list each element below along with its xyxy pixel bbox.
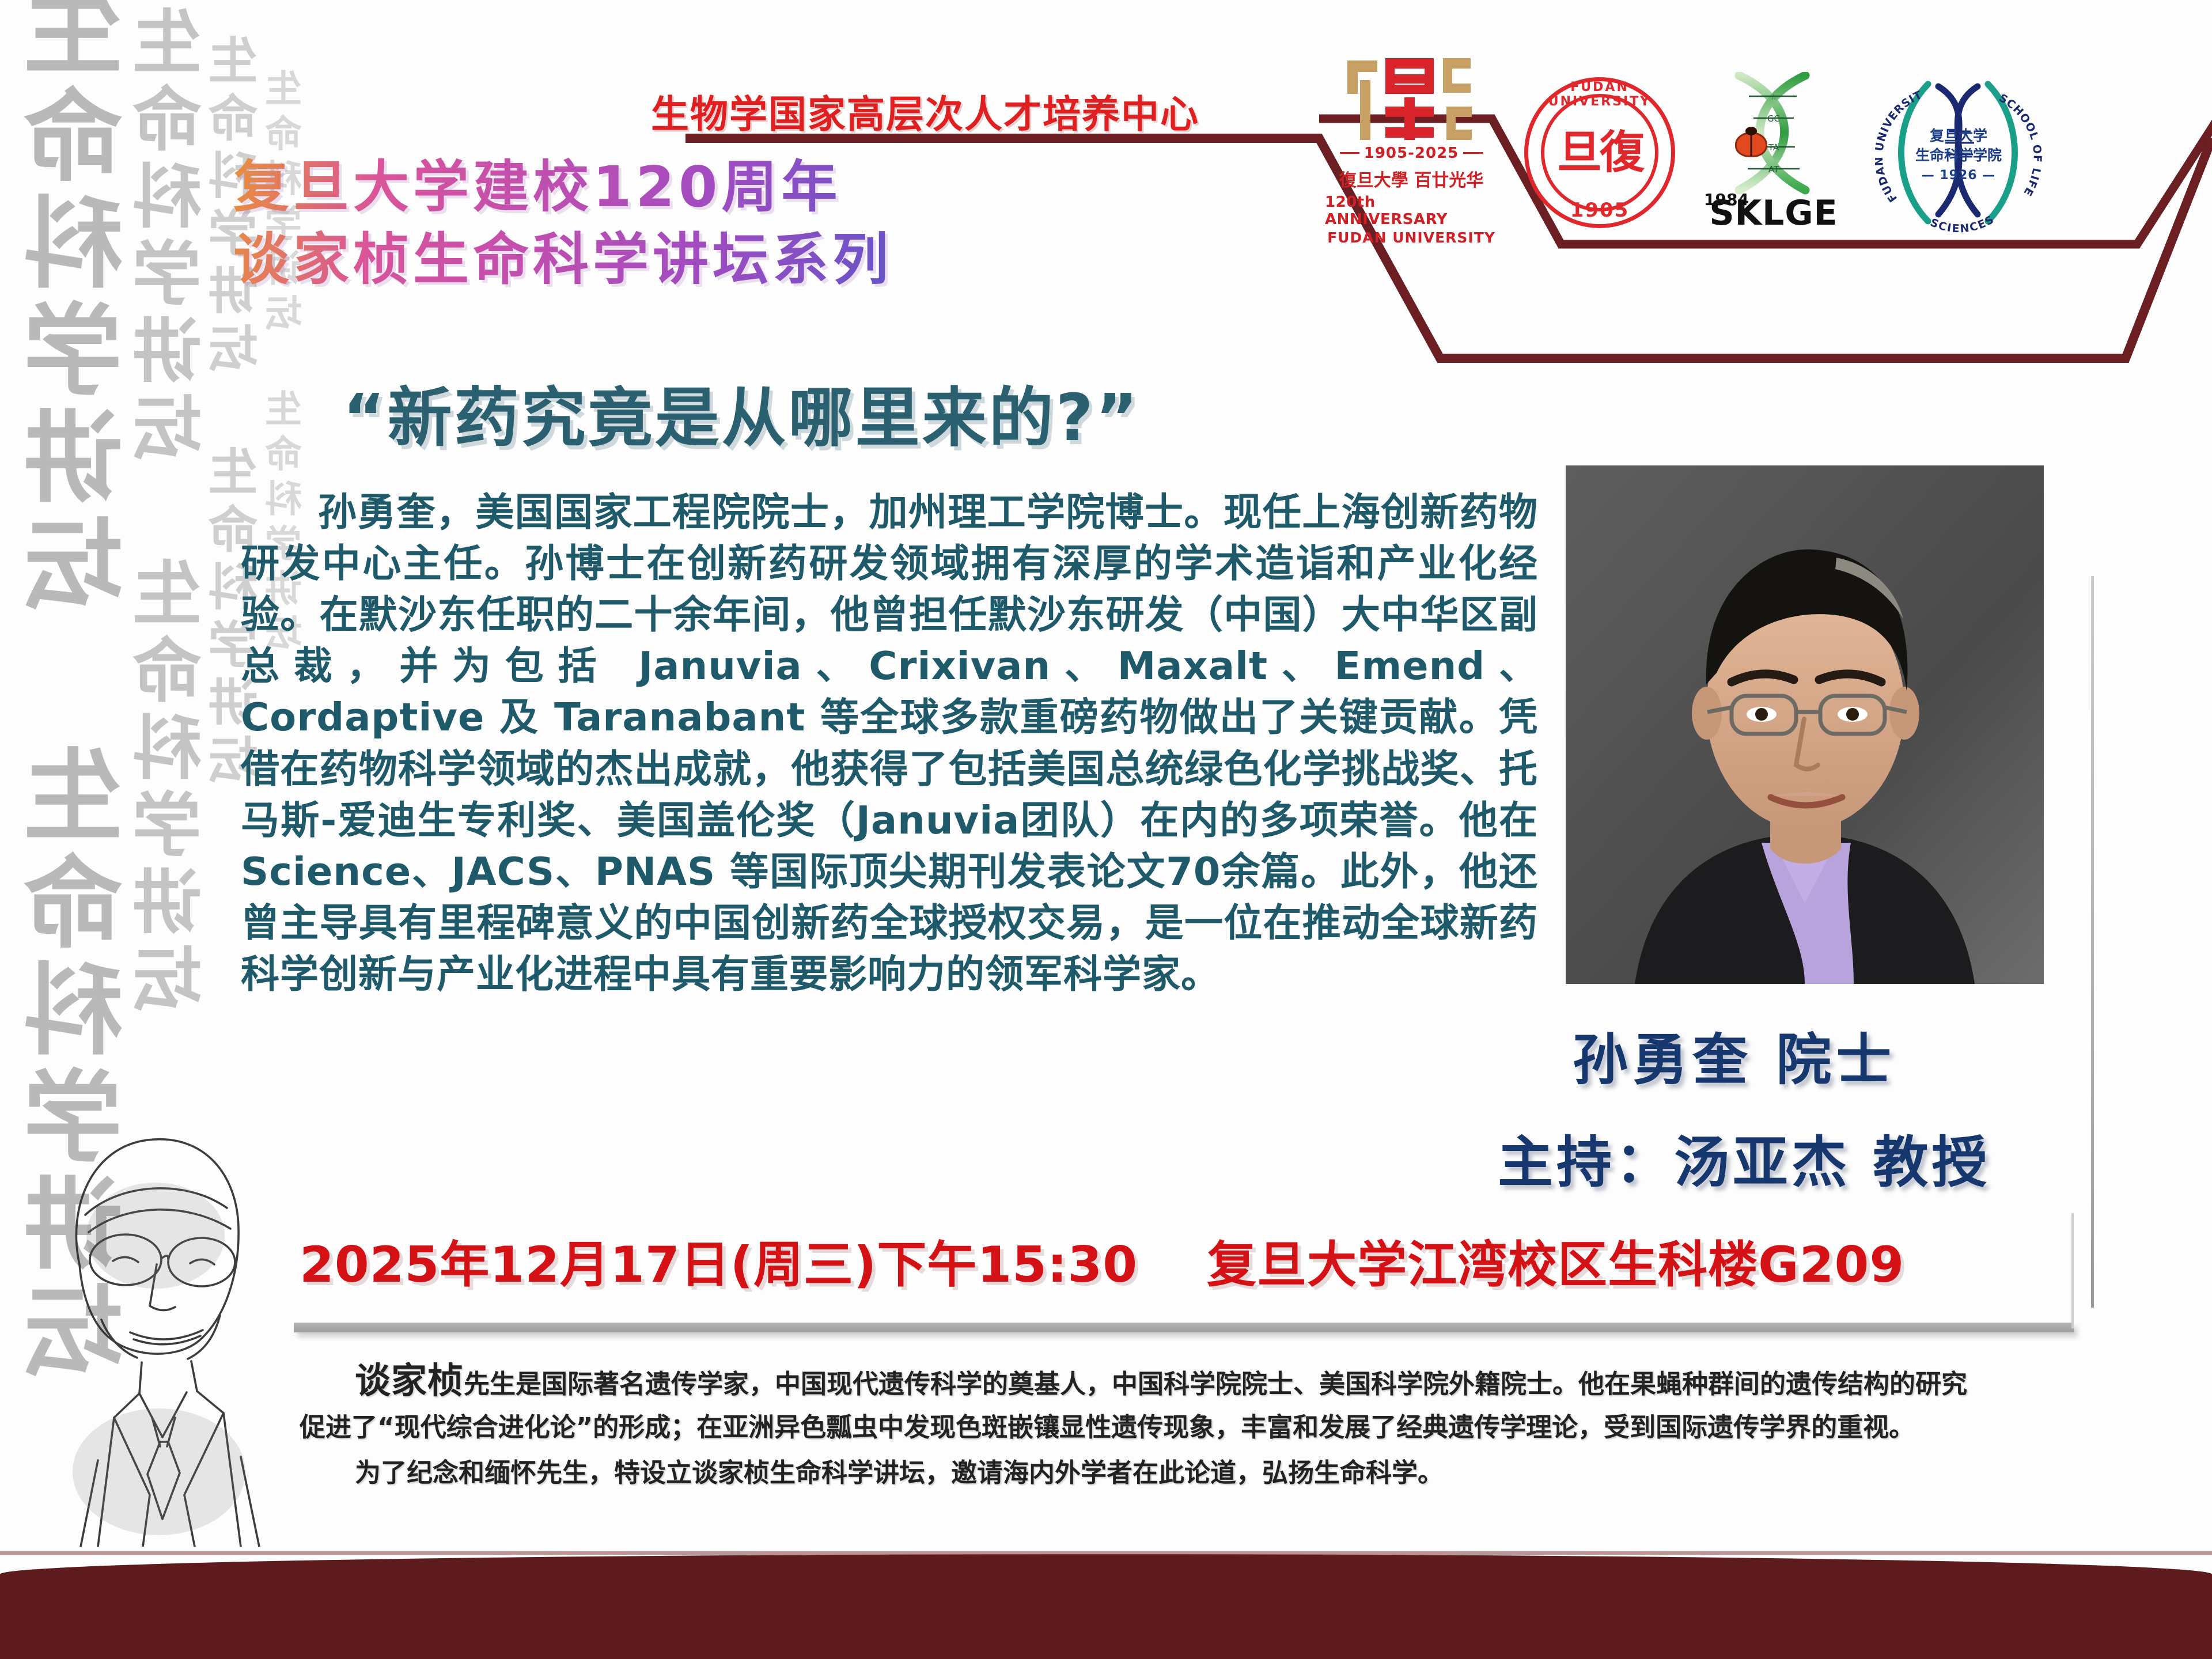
right-edge-rule bbox=[2071, 1213, 2074, 1328]
sklge-logo: ☆ GC TA AT 1984 SKLGE bbox=[1702, 72, 1846, 233]
speaker-bio: 孙勇奎，美国国家工程院院士，加州理工学院博士。现任上海创新药物研发中心主任。孙博… bbox=[241, 487, 1538, 1000]
anniversary-years: 1905-2025 bbox=[1340, 145, 1483, 162]
anniversary-en-line2: FUDAN UNIVERSITY bbox=[1327, 229, 1495, 246]
logo-strip: 1905-2025 復旦大學 百廿光华 120th ANNIVERSARY FU… bbox=[1325, 63, 2045, 242]
footer-lead-name: 谈家桢 bbox=[355, 1359, 464, 1402]
series-title-line2: 谈家桢生命科学讲坛系列 bbox=[233, 224, 892, 296]
series-title: 复旦大学建校120周年 谈家桢生命科学讲坛系列 bbox=[233, 151, 892, 296]
sls-year: — 1926 — bbox=[1915, 166, 2002, 184]
footer-paragraph-3: 为了纪念和缅怀先生，特设立谈家桢生命科学讲坛，邀请海内外学者在此论道，弘扬生命科… bbox=[300, 1453, 2068, 1493]
seal-core-text: 旦復 bbox=[1557, 131, 1642, 174]
sls-cn-line2: 生命科学学院 bbox=[1915, 146, 2002, 165]
seal-top-text: FUDAN UNIVERSITY bbox=[1528, 80, 1671, 109]
sls-cn-text: 复旦大学 生命科学学院 — 1926 — bbox=[1915, 126, 2002, 184]
sls-cn-line1: 复旦大学 bbox=[1915, 126, 2002, 146]
anniversary-cn-line: 復旦大學 百廿光华 bbox=[1339, 166, 1483, 191]
svg-text:☆: ☆ bbox=[1770, 93, 1778, 102]
svg-text:TA: TA bbox=[1768, 142, 1779, 153]
fudan-school-of-life-sciences-logo: FUDAN UNIVERSITY SCHOOL OF LIFE SCIENCES… bbox=[1872, 69, 2045, 236]
fudan-120th-anniversary-logo: 1905-2025 復旦大學 百廿光华 120th ANNIVERSARY FU… bbox=[1325, 60, 1498, 246]
footer-biography: 谈家桢先生是国际著名遗传学家，中国现代遗传科学的奠基人，中国科学院院士、美国科学… bbox=[300, 1354, 2068, 1493]
footer-paragraph-1: 谈家桢先生是国际著名遗传学家，中国现代遗传科学的奠基人，中国科学院院士、美国科学… bbox=[300, 1354, 2068, 1408]
speaker-photo bbox=[1566, 465, 2044, 984]
tan-jiazhen-sketch-portrait bbox=[12, 1092, 276, 1547]
dna-helix-icon: ☆ GC TA AT bbox=[1713, 72, 1834, 196]
lecture-title: “新药究竟是从哪里来的?” bbox=[343, 366, 1140, 459]
bottom-banner bbox=[0, 1554, 2212, 1659]
sklge-label: SKLGE bbox=[1709, 193, 1838, 233]
anniversary-en-line1: 120th ANNIVERSARY bbox=[1325, 194, 1498, 228]
divider-line bbox=[294, 1323, 2074, 1332]
svg-text:GC: GC bbox=[1767, 113, 1780, 124]
anniversary-mark-icon bbox=[1345, 60, 1478, 141]
event-info-bar: 2025年12月17日(周三)下午15:30 复旦大学江湾校区生科楼G209 bbox=[300, 1224, 1904, 1296]
ladybug-icon bbox=[1735, 132, 1767, 157]
seal-bottom-text: 1905 bbox=[1528, 199, 1671, 222]
fudan-university-seal: FUDAN UNIVERSITY 旦復 1905 bbox=[1524, 77, 1675, 228]
event-venue: 复旦大学江湾校区生科楼G209 bbox=[1207, 1224, 1904, 1296]
footer-p1-text: 先生是国际著名遗传学家，中国现代遗传科学的奠基人，中国科学院院士、美国科学院外籍… bbox=[464, 1369, 1967, 1399]
right-vertical-rule bbox=[2091, 576, 2094, 1308]
svg-text:AT: AT bbox=[1768, 164, 1779, 175]
program-center-name: 生物学国家高层次人才培养中心 bbox=[651, 84, 1199, 139]
poster-canvas: 生命科学讲坛 生命科学讲坛 生命科学讲坛 生命科学讲坛 生命科学讲坛 生命科学讲… bbox=[0, 0, 2212, 1659]
series-title-line1: 复旦大学建校120周年 bbox=[233, 151, 892, 224]
host-name: 主持：汤亚杰 教授 bbox=[1498, 1118, 1990, 1198]
sls-emblem-icon: FUDAN UNIVERSITY SCHOOL OF LIFE SCIENCES… bbox=[1875, 69, 2042, 236]
event-datetime: 2025年12月17日(周三)下午15:30 bbox=[300, 1224, 1138, 1296]
seal-icon: FUDAN UNIVERSITY 旦復 1905 bbox=[1524, 77, 1675, 228]
footer-paragraph-2: 促进了“现代综合进化论”的形成；在亚洲异色瓢虫中发现色斑嵌镶显性遗传现象，丰富和… bbox=[300, 1408, 2068, 1447]
watermark-column-2: 生命科学讲坛 生命科学讲坛 bbox=[124, 6, 224, 1020]
speaker-name: 孙勇奎 院士 bbox=[1573, 1015, 1896, 1095]
